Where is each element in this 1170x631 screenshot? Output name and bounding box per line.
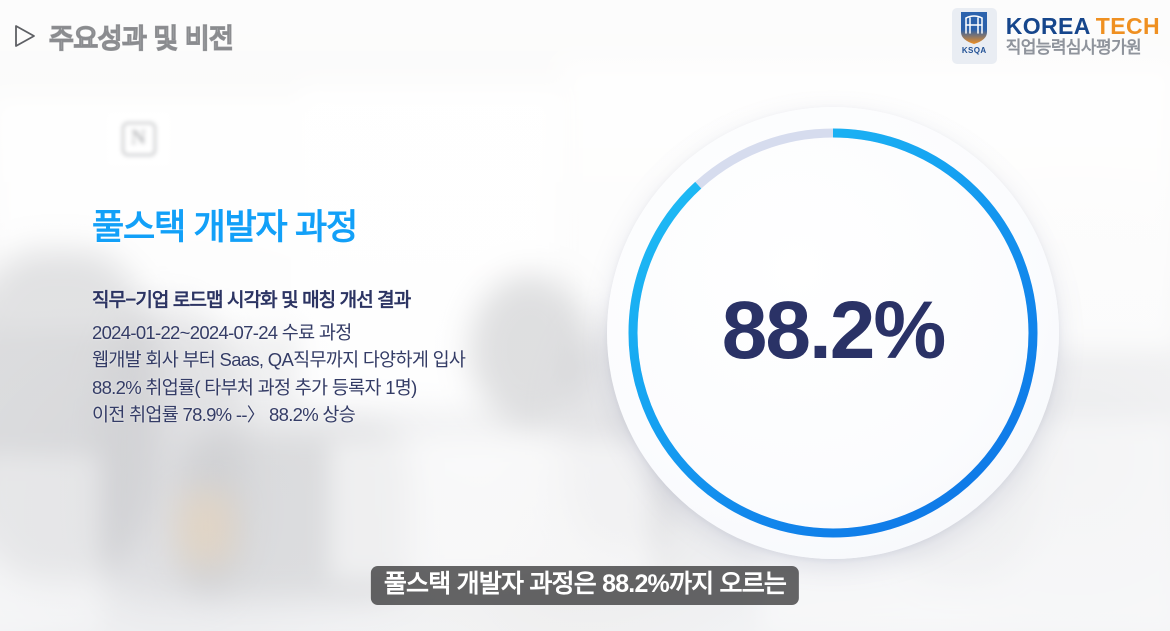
course-detail-heading: 직무−기업 로드맵 시각화 및 매칭 개선 결과 — [92, 289, 572, 313]
course-title: 풀스택 개발자 과정 — [92, 210, 572, 245]
course-detail-line-1: 2024-01-22~2024-07-24 수료 과정 — [92, 319, 572, 346]
brand-logo: KSQA KOREATECH 직업능력심사평가원 — [952, 8, 1160, 64]
employment-rate-gauge: 88.2% — [607, 107, 1059, 559]
course-detail-line-4: 이전 취업률 78.9% --〉 88.2% 상승 — [92, 401, 572, 428]
ksqa-shield-icon: KSQA — [952, 8, 997, 64]
subtitle-caption-text: 풀스택 개발자 과정은 88.2%까지 오르는 — [384, 571, 786, 599]
brand-subtitle: 직업능력심사평가원 — [1006, 39, 1160, 57]
brand-name: KOREATECH — [1006, 15, 1160, 38]
brand-text-group: KOREATECH 직업능력심사평가원 — [1006, 15, 1160, 57]
course-detail-line-2: 웹개발 회사 부터 Saas, QA직무까지 다양하게 입사 — [92, 346, 572, 373]
subtitle-caption: 풀스택 개발자 과정은 88.2%까지 오르는 — [371, 566, 799, 606]
ksqa-wordmark: KSQA — [962, 46, 987, 55]
course-detail-line-3: 88.2% 취업률( 타부처 과정 추가 등록자 1명) — [92, 374, 572, 401]
header-title-group: 주요성과 및 비전 — [14, 17, 233, 56]
slide-canvas: N 주요성과 및 비전 — [0, 0, 1170, 631]
play-triangle-icon — [14, 24, 36, 48]
brand-name-korea: KOREA — [1006, 13, 1091, 39]
ksqa-emblem-icon — [959, 11, 989, 45]
gauge-value-label: 88.2% — [607, 284, 1059, 378]
page-title: 주요성과 및 비전 — [49, 17, 233, 56]
course-info-block: 풀스택 개발자 과정 직무−기업 로드맵 시각화 및 매칭 개선 결과 2024… — [92, 210, 572, 428]
brand-name-tech: TECH — [1096, 13, 1160, 39]
